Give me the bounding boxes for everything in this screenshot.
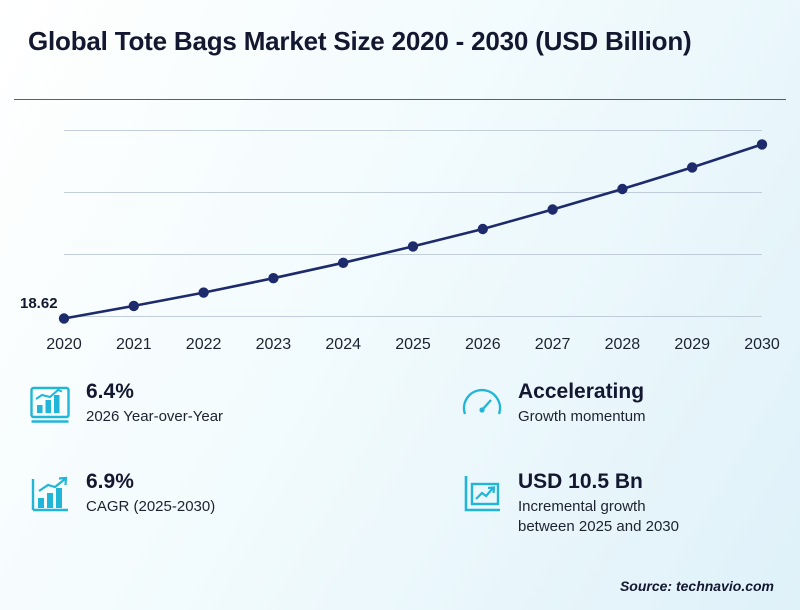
data-point	[408, 241, 418, 251]
data-point	[268, 273, 278, 283]
kpi-incremental-growth: USD 10.5 Bn Incremental growth between 2…	[460, 470, 679, 536]
data-point	[129, 301, 139, 311]
kpi-momentum: Accelerating Growth momentum	[460, 380, 646, 427]
kpi-label: 2026 Year-over-Year	[86, 407, 223, 427]
x-tick-label: 2029	[674, 336, 710, 354]
kpi-value: Accelerating	[518, 380, 646, 404]
speedometer-icon	[460, 382, 504, 426]
x-tick-label: 2024	[325, 336, 361, 354]
bar-chart-icon	[28, 382, 72, 426]
kpi-yoy: 6.4% 2026 Year-over-Year	[28, 380, 223, 427]
kpi-label: Growth momentum	[518, 407, 646, 427]
kpi-value: 6.9%	[86, 470, 215, 494]
kpi-cagr: 6.9% CAGR (2025-2030)	[28, 470, 215, 517]
chart-plot: 18.62	[64, 130, 762, 330]
data-point	[547, 204, 557, 214]
x-tick-label: 2027	[535, 336, 571, 354]
data-point	[478, 224, 488, 234]
x-tick-label: 2028	[605, 336, 641, 354]
kpi-label: CAGR (2025-2030)	[86, 497, 215, 517]
data-point	[338, 258, 348, 268]
x-tick-label: 2022	[186, 336, 222, 354]
kpi-grid: 6.4% 2026 Year-over-Year 6.9% CAGR (2025…	[28, 380, 772, 560]
x-tick-label: 2021	[116, 336, 152, 354]
kpi-value: 6.4%	[86, 380, 223, 404]
x-tick-label: 2023	[256, 336, 292, 354]
infographic-page: Global Tote Bags Market Size 2020 - 2030…	[0, 0, 800, 610]
data-point	[198, 287, 208, 297]
x-axis-tick-labels: 2020202120222023202420252026202720282029…	[64, 336, 762, 358]
data-point	[687, 162, 697, 172]
source-attribution: Source: technavio.com	[620, 578, 774, 594]
trend-up-box-icon	[460, 472, 504, 516]
growth-arrow-chart-icon	[28, 472, 72, 516]
page-title: Global Tote Bags Market Size 2020 - 2030…	[28, 26, 788, 58]
chart-area: 18.62 2020202120222023202420252026202720…	[14, 112, 786, 362]
data-point	[59, 313, 69, 323]
x-tick-label: 2020	[46, 336, 82, 354]
x-tick-label: 2025	[395, 336, 431, 354]
kpi-value: USD 10.5 Bn	[518, 470, 679, 494]
first-point-value-label: 18.62	[20, 295, 58, 312]
data-point	[757, 139, 767, 149]
kpi-label: Incremental growth between 2025 and 2030	[518, 497, 679, 536]
title-divider	[14, 99, 786, 100]
data-point	[617, 184, 627, 194]
x-tick-label: 2030	[744, 336, 780, 354]
x-tick-label: 2026	[465, 336, 501, 354]
line-series	[64, 130, 762, 330]
